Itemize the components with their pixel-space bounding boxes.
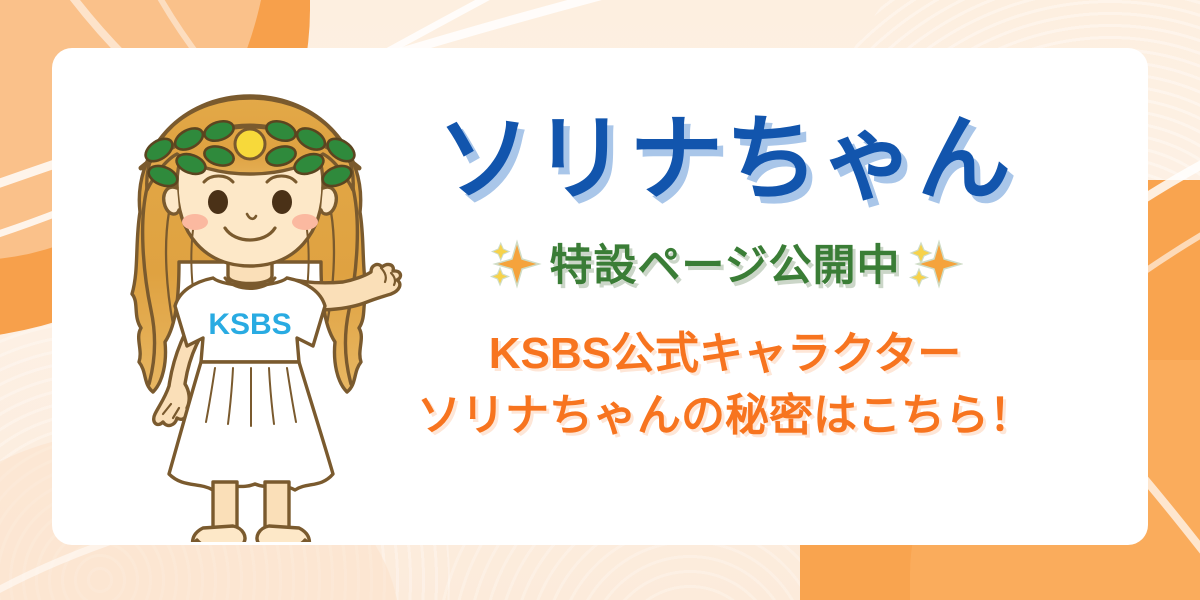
dress-logo-text: KSBS <box>208 308 291 341</box>
sorina-chan-illustration: KSBS <box>85 62 415 542</box>
description-text: KSBS公式キャラクター ソリナちゃんの秘密はこちら！ <box>380 323 1070 448</box>
subtitle-row: 特設ページ公開中 <box>380 231 1070 293</box>
banner-text-block: ソリナちゃん 特設ページ公開中 KSBS公式キャラクター ソリナち <box>380 110 1070 448</box>
promo-banner: KSBS ソリナちゃん 特設ページ公開中 <box>0 0 1200 600</box>
description-line-2: ソリナちゃんの秘密はこちら！ <box>380 385 1070 447</box>
description-line-1: KSBS公式キャラクター <box>380 323 1070 385</box>
sparkles-icon-left <box>487 234 543 290</box>
subtitle-text: 特設ページ公開中 <box>549 231 900 293</box>
sparkles-icon-right <box>907 234 963 290</box>
page-title: ソリナちゃん <box>380 110 1070 209</box>
